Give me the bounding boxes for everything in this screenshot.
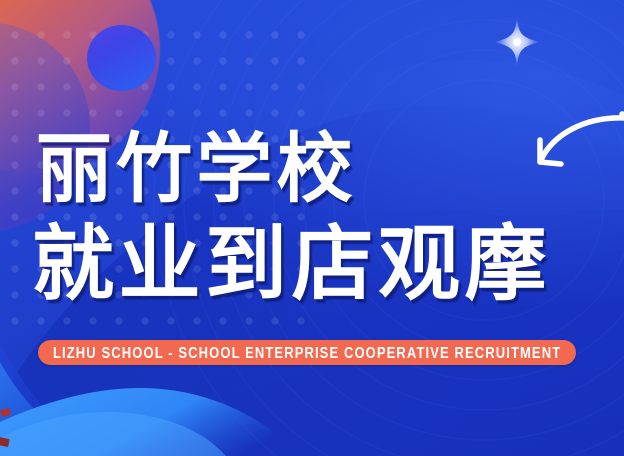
subtitle-banner: LIZHU SCHOOL - SCHOOL ENTERPRISE COOPERA… [38, 340, 576, 365]
headline-line-1: 丽竹学校 [36, 131, 357, 207]
headline-line-2: 就业到店观摩 [32, 224, 551, 306]
subtitle-text: LIZHU SCHOOL - SCHOOL ENTERPRISE COOPERA… [53, 344, 561, 362]
poster-content: 丽竹学校 就业到店观摩 LIZHU SCHOOL - SCHOOL ENTERP… [0, 0, 624, 456]
promotional-poster: 丽竹学校 就业到店观摩 LIZHU SCHOOL - SCHOOL ENTERP… [0, 0, 624, 456]
